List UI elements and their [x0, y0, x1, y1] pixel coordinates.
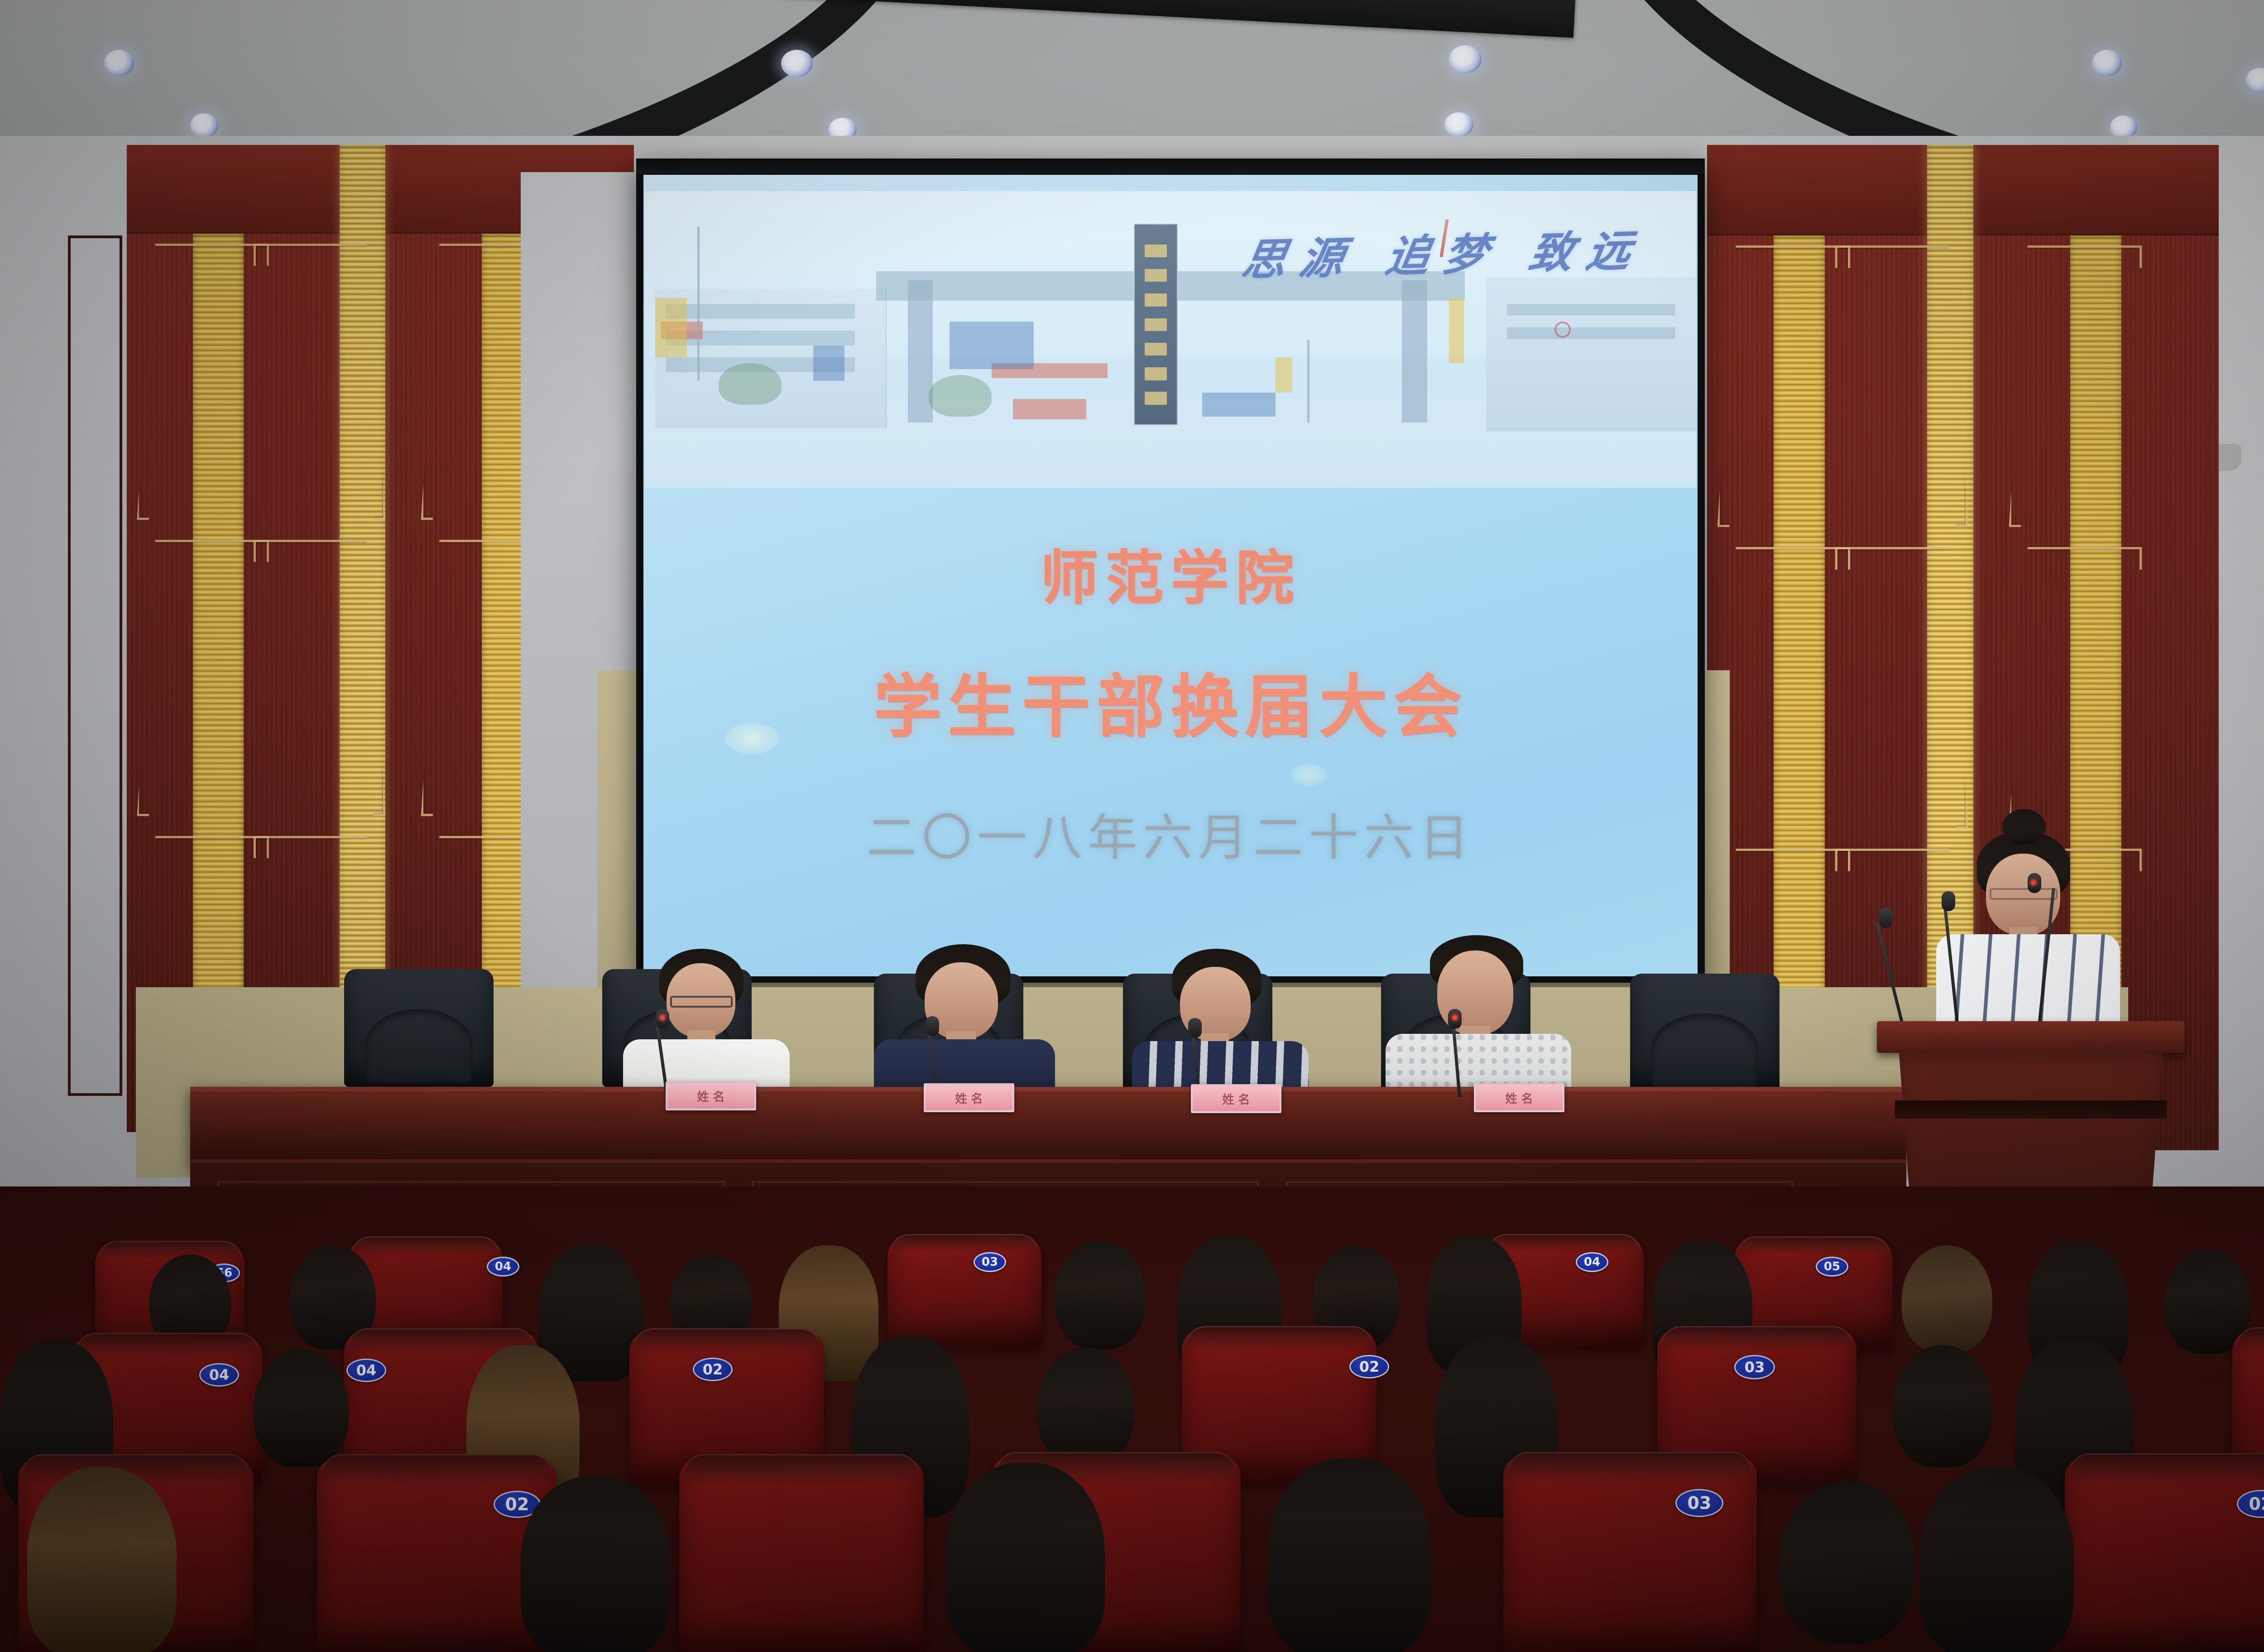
audience-head: [1268, 1458, 1431, 1652]
nameplate-text: 姓 名: [955, 1090, 983, 1106]
panelist-1: [620, 949, 792, 1098]
ceiling-spotlight: [190, 113, 218, 138]
slide-title-line1: 师范学院: [1040, 531, 1301, 615]
seat-number-badge: 02: [1349, 1355, 1389, 1378]
microphone-led-icon: [1452, 1014, 1458, 1021]
audience-head: [1893, 1345, 1992, 1467]
seat-number-badge: 03: [1734, 1355, 1775, 1379]
nameplate: 姓 名: [666, 1081, 756, 1110]
nameplate: 姓 名: [1474, 1083, 1564, 1112]
calligraphy-motto: 思源 追梦 致远: [1238, 215, 1650, 288]
glasses-icon: [670, 996, 733, 1008]
seat-number-badge: 04: [1576, 1252, 1608, 1272]
slide-date: 二〇一八年六月二十六日: [867, 797, 1474, 869]
executive-chair[interactable]: [344, 969, 494, 1087]
podium-shelf: [1895, 1100, 2167, 1119]
slide-title-block: 师范学院 学生干部换届大会 二〇一八年六月二十六日: [643, 492, 1698, 976]
ceiling-spotlight: [781, 50, 813, 77]
seat-number-badge: 02: [693, 1358, 733, 1381]
bank-logo-icon: [1554, 322, 1571, 338]
glasses-icon: [1990, 888, 2058, 900]
panelist-4: [1386, 935, 1571, 1098]
panelist-2: [874, 944, 1055, 1098]
audience-seating: 56 04 03 04 05 04 04 02 02 03 05: [0, 1186, 2264, 1652]
microphone-head[interactable]: [1188, 1018, 1202, 1038]
audience-head: [1920, 1467, 2074, 1652]
hair-bun: [2002, 809, 2046, 845]
ceiling-spotlight: [1449, 45, 1482, 73]
audience-head: [1037, 1347, 1134, 1467]
audience-head: [1902, 1245, 1992, 1354]
ceiling: [0, 0, 2264, 149]
audience-head: [521, 1476, 670, 1652]
podium-microphone-led-icon: [2030, 879, 2037, 886]
podium-microphone-head[interactable]: [1879, 908, 1893, 928]
projection-screen-surface: 思源 追梦 致远 师范学院 学生干部换届大会 二〇一八年六月二十六日: [643, 175, 1698, 976]
microphone-head[interactable]: [926, 1016, 939, 1036]
auditorium-scene: 思源 追梦 致远 师范学院 学生干部换届大会 二〇一八年六月二十六日: [0, 0, 2264, 1652]
seat-number-badge: 03: [974, 1252, 1006, 1272]
seat-number-badge: 04: [199, 1363, 239, 1387]
screen-hotspot-glow: [725, 723, 779, 754]
head-table: [190, 1087, 1906, 1168]
slide-title-line2: 学生干部换届大会: [873, 652, 1468, 750]
ceiling-spotlight: [1444, 112, 1473, 137]
ceiling-spotlight: [104, 50, 134, 76]
nameplate-text: 姓 名: [1222, 1090, 1250, 1107]
screen-hotspot-glow: [1291, 764, 1327, 786]
seat[interactable]: [679, 1458, 924, 1652]
audience-head: [254, 1349, 349, 1467]
podium-speaker: [1933, 831, 2124, 1048]
podium-microphone-head[interactable]: [1942, 891, 1955, 911]
nameplate-text: 姓 名: [1505, 1090, 1533, 1106]
audience-head: [27, 1467, 177, 1652]
audience-head: [1055, 1241, 1146, 1349]
nameplate: 姓 名: [924, 1083, 1014, 1112]
seat-number-badge: 03: [1675, 1489, 1723, 1517]
nameplate: 姓 名: [1191, 1084, 1281, 1113]
nameplate-text: 姓 名: [697, 1088, 724, 1105]
side-door-glass[interactable]: [68, 235, 122, 1096]
seat-number-badge: 04: [346, 1359, 386, 1382]
executive-chair[interactable]: [1630, 974, 1780, 1091]
seat[interactable]: [887, 1236, 1041, 1349]
seat[interactable]: [2065, 1457, 2264, 1652]
microphone-led-icon: [659, 1014, 666, 1021]
audience-head: [946, 1463, 1105, 1652]
panelist-3: [1132, 949, 1309, 1103]
projection-screen-frame: 思源 追梦 致远 师范学院 学生干部换届大会 二〇一八年六月二十六日: [636, 158, 1705, 983]
seat[interactable]: [1503, 1456, 1757, 1652]
seat-number-badge: 04: [487, 1257, 519, 1277]
gate-sign-pillar: [1134, 224, 1178, 425]
seat-number-badge: 05: [1816, 1257, 1848, 1277]
podium-top-surface: [1877, 1021, 2185, 1053]
screen-top-bar: [636, 158, 1705, 174]
ceiling-spotlight: [2092, 50, 2122, 76]
audience-head: [1780, 1481, 1915, 1644]
